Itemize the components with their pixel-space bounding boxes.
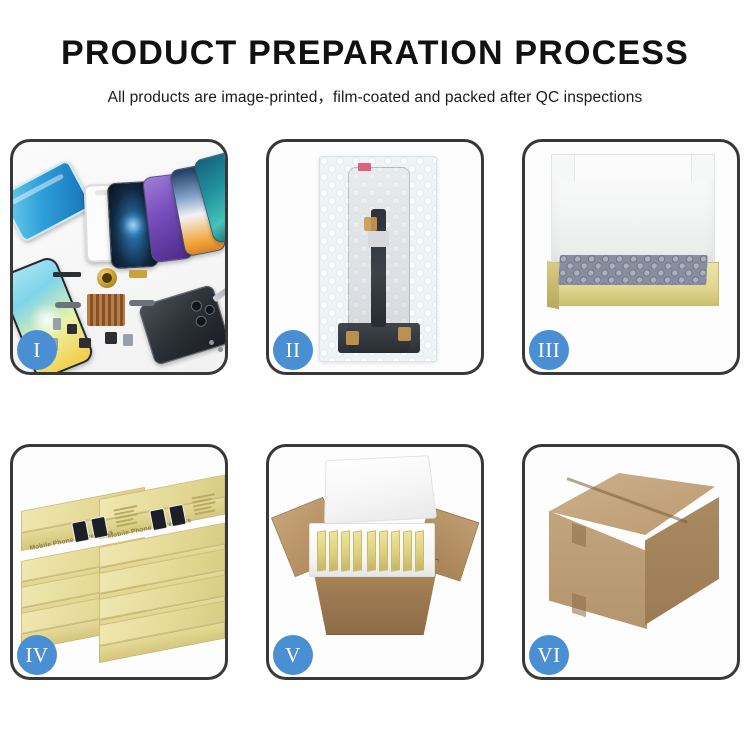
- sim-tray: [123, 334, 133, 346]
- camera-module: [105, 332, 117, 344]
- blue-screen-protector: [13, 159, 93, 243]
- step-panel-2: II: [266, 139, 484, 375]
- bracket-2: [67, 324, 77, 334]
- foam-lid: [324, 455, 437, 524]
- earpiece-mesh: [53, 272, 81, 277]
- step-numeral-5: V: [285, 645, 301, 666]
- kapton-tape-3: [398, 327, 411, 341]
- flex-cable-1: [55, 302, 81, 308]
- step-panel-5: V: [266, 444, 484, 680]
- retail-box-stack: Mobile Phone Spare Parts Mobile Phone Sp…: [19, 465, 225, 663]
- retail-box-right-4: [99, 625, 225, 663]
- step-panel-3: III: [522, 139, 740, 375]
- pink-qc-label: [358, 163, 371, 171]
- step-numeral-6: VI: [537, 645, 560, 666]
- speaker-module: [97, 268, 117, 288]
- bubble-wrap-filling: [558, 255, 708, 285]
- bubble-wrap-bag: [319, 156, 437, 362]
- page-title: PRODUCT PREPARATION PROCESS: [0, 0, 750, 70]
- white-box-lid: [551, 154, 715, 268]
- product-preparation-infographic: PRODUCT PREPARATION PROCESS All products…: [0, 0, 750, 750]
- step-numeral-4: IV: [25, 645, 48, 666]
- step-numeral-2: II: [286, 340, 301, 361]
- vibration-motor: [79, 338, 91, 348]
- step-panel-6: VI: [522, 444, 740, 680]
- kapton-tape-1: [364, 217, 377, 231]
- page-subtitle: All products are image-printed，film-coat…: [0, 70, 750, 107]
- packed-retail-boxes: [317, 531, 427, 571]
- bracket-1: [53, 318, 61, 330]
- flex-cable-2: [129, 300, 155, 306]
- step-badge-2: II: [273, 330, 313, 370]
- step-numeral-3: III: [538, 340, 560, 361]
- step-panel-1: I: [10, 139, 228, 375]
- step-numeral-1: I: [33, 340, 41, 361]
- step-badge-5: V: [273, 635, 313, 675]
- header: PRODUCT PREPARATION PROCESS All products…: [0, 0, 750, 107]
- gold-contact-strip: [129, 270, 147, 278]
- step-badge-3: III: [529, 330, 569, 370]
- carton-tape-upper: [572, 523, 586, 548]
- step-badge-4: IV: [17, 635, 57, 675]
- copper-shield-mesh: [87, 294, 125, 326]
- step-badge-6: VI: [529, 635, 569, 675]
- kapton-tape-2: [346, 331, 359, 345]
- steps-grid: I II: [10, 139, 740, 680]
- step-badge-1: I: [17, 330, 57, 370]
- step-panel-4: Mobile Phone Spare Parts Mobile Phone Sp…: [10, 444, 228, 680]
- carton-tape-lower: [572, 593, 586, 618]
- screws-group: [209, 338, 225, 354]
